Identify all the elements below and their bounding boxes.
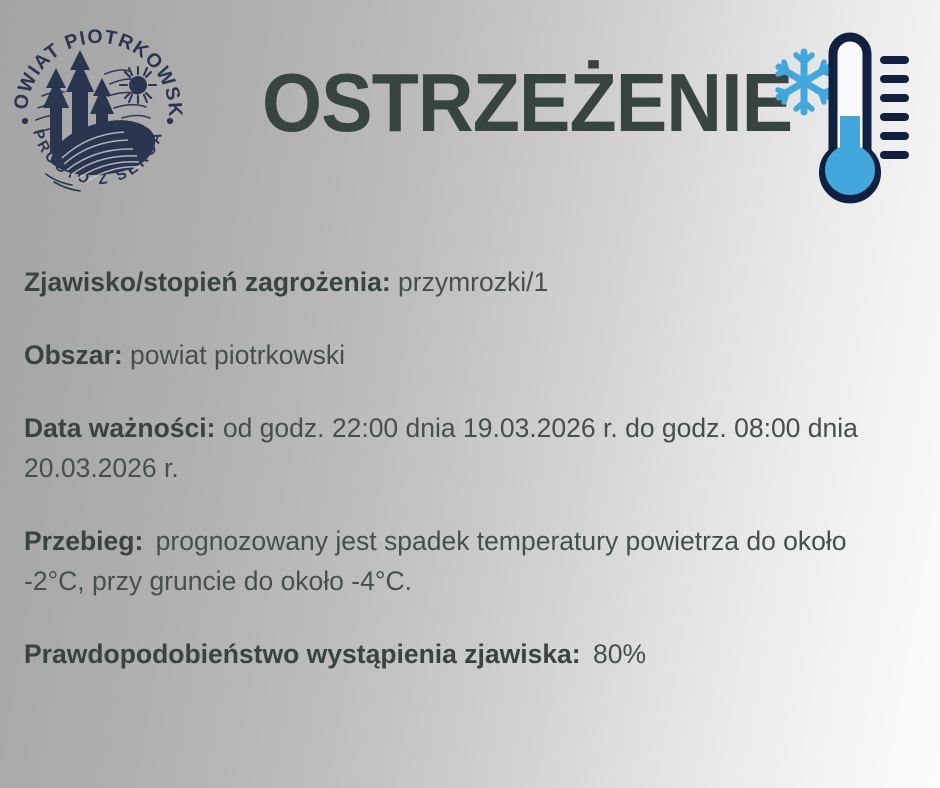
detail-label-phenomenon: Zjawisko/stopień zagrożenia: (24, 267, 391, 297)
detail-row-probability: Prawdopodobieństwo wystąpienia zjawiska:… (24, 634, 894, 674)
detail-label-validity: Data ważności: (24, 413, 215, 443)
detail-row-area: Obszar: powiat piotrkowski (24, 335, 894, 375)
warning-details: Zjawisko/stopień zagrożenia: przymrozki/… (24, 262, 910, 674)
detail-row-validity: Data ważności: od godz. 22:00 dnia 19.03… (24, 408, 884, 488)
detail-value-probability: 80% (593, 639, 646, 669)
logo-dot-right (167, 118, 173, 124)
detail-label-area: Obszar: (24, 340, 123, 370)
detail-label-course: Przebieg: (24, 526, 143, 556)
page-title: OSTRZEŻENIE (262, 56, 792, 150)
thermometer-scale-icon (884, 60, 905, 155)
powiat-piotrkowski-logo: POWIAT PIOTRKOWSKI PROSTO Z SERCA (10, 22, 185, 200)
warning-poster: POWIAT PIOTRKOWSKI PROSTO Z SERCA (0, 0, 940, 788)
snowflake-icon (778, 52, 830, 112)
detail-row-phenomenon: Zjawisko/stopień zagrożenia: przymrozki/… (24, 262, 894, 302)
detail-label-probability: Prawdopodobieństwo wystąpienia zjawiska: (24, 639, 581, 669)
detail-value-phenomenon: przymrozki/1 (398, 267, 548, 297)
detail-value-area: powiat piotrkowski (130, 340, 345, 370)
thermometer-icon (824, 37, 877, 199)
detail-row-course: Przebieg: prognozowany jest spadek tempe… (24, 521, 902, 601)
detail-value-course: prognozowany jest spadek temperatury pow… (24, 526, 847, 596)
frost-warning-icon (772, 24, 924, 210)
poster-header: POWIAT PIOTRKOWSKI PROSTO Z SERCA (0, 0, 940, 230)
logo-dot-left (22, 118, 28, 124)
